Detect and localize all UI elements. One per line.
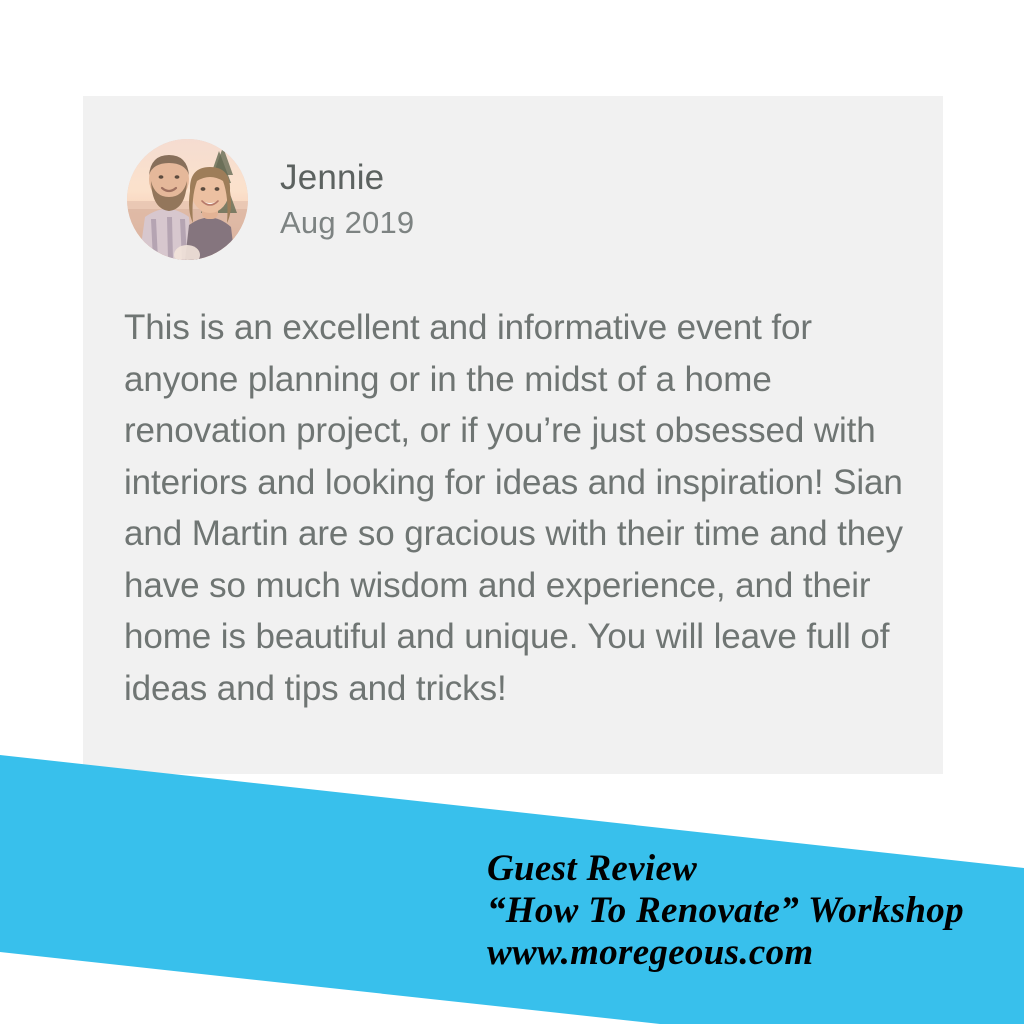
reviewer-name: Jennie (280, 158, 414, 197)
review-card: Jennie Aug 2019 This is an excellent and… (83, 96, 943, 774)
reviewer-identity: Jennie Aug 2019 (280, 158, 414, 240)
review-card-header: Jennie Aug 2019 (127, 139, 414, 260)
review-date: Aug 2019 (280, 204, 414, 241)
avatar-photo (127, 139, 248, 260)
banner-line-guest-review: Guest Review (487, 848, 964, 890)
avatar (127, 139, 248, 260)
banner-caption: Guest Review “How To Renovate” Workshop … (487, 848, 964, 974)
review-text: This is an excellent and informative eve… (124, 302, 924, 714)
banner-line-website: www.moregeous.com (487, 932, 964, 974)
banner-line-workshop-title: “How To Renovate” Workshop (487, 890, 964, 932)
